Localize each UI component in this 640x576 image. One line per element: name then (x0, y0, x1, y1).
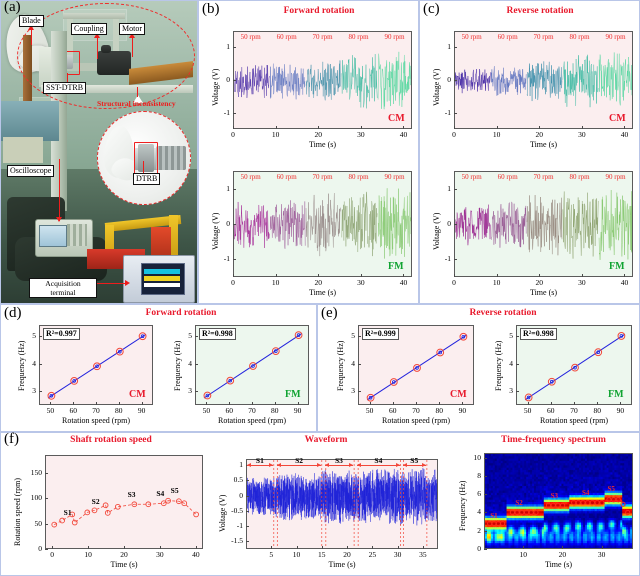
panel-d-label: (d) (4, 305, 22, 322)
y-tick-label: -1 (207, 108, 230, 117)
tag-blade: Blade (19, 15, 44, 27)
y-tick-mark (233, 47, 236, 48)
dtrb-highlight (134, 142, 158, 174)
speed-segment-label: S4 (156, 489, 164, 498)
x-tick-label: 20 (110, 550, 138, 559)
chart-f-speed-title: Shaft rotation speed (41, 435, 181, 445)
panel-c-label: (c) (423, 1, 440, 18)
panel-c-title: Reverse rotation (460, 6, 620, 16)
panel-b: (b) Forward rotation 010203040-101Time (… (198, 0, 419, 304)
plot-area (454, 31, 633, 129)
y-tick-mark (233, 189, 236, 190)
spectrogram-cell (632, 486, 633, 489)
y-axis-title: Frequency (Hz) (336, 341, 345, 391)
spectrum-segment-label: S2 (515, 499, 522, 507)
panel-b-label: (b) (202, 1, 220, 18)
x-tick-label: 10 (74, 550, 102, 559)
speed-data-point (52, 522, 57, 527)
tag-coupling: Coupling (71, 23, 107, 35)
spectrogram-cell (632, 479, 633, 482)
x-tick-mark (347, 546, 348, 549)
x-tick-mark (276, 126, 277, 129)
y-tick-mark (358, 391, 361, 392)
spectrogram-cell (632, 525, 633, 528)
y-tick-label: 0 (19, 544, 42, 553)
x-tick-mark (275, 402, 276, 405)
x-tick-mark (361, 274, 362, 277)
figure-root: Blade Coupling Motor SST-DTRB Oscillosco… (0, 0, 640, 576)
x-tick-label: 0 (440, 278, 468, 287)
spectrogram-cell (632, 497, 633, 500)
x-tick-label: 10 (483, 130, 511, 139)
spectrogram-cell (632, 507, 633, 510)
plot-area (246, 459, 438, 549)
y-tick-label: 1 (220, 460, 243, 469)
y-tick-mark (39, 336, 42, 337)
y-tick-mark (246, 541, 249, 542)
experiment-photograph: Blade Coupling Motor SST-DTRB Oscillosco… (1, 1, 197, 303)
x-tick-mark (574, 402, 575, 405)
waveform-segment-label: S2 (292, 456, 306, 465)
plot-area (233, 171, 412, 277)
x-tick-mark (582, 274, 583, 277)
x-tick-mark (403, 274, 404, 277)
x-tick-label: 10 (262, 130, 290, 139)
spectrogram-cell (632, 488, 633, 491)
spectrogram-cell (630, 548, 633, 549)
x-tick-label: 10 (509, 550, 537, 559)
panel-e-title: Reverse rotation (418, 308, 588, 318)
y-tick-label: 0.5 (220, 475, 243, 484)
tag-sst-dtrb: SST-DTRB (43, 82, 86, 94)
x-tick-label: 90 (606, 406, 634, 415)
x-tick-mark (403, 126, 404, 129)
x-tick-mark (361, 126, 362, 129)
y-tick-label: -1 (207, 254, 230, 263)
x-tick-mark (50, 402, 51, 405)
span-arrowhead (349, 463, 353, 467)
waveform-segment-label: S4 (371, 456, 385, 465)
x-tick-label: 20 (525, 130, 553, 139)
y-axis-title: Rotation speed (rpm) (13, 478, 22, 546)
chart-b-cm: 010203040-101Time (s)Voltage (V)50 rpm60… (199, 17, 420, 153)
speed-data-point (60, 518, 65, 523)
spectrogram-cell (632, 465, 633, 468)
chart-d-cm: 5060708090345Rotation speed (rpm)Frequen… (5, 317, 161, 431)
waveform-segment (378, 188, 412, 258)
span-arrowhead (325, 463, 329, 467)
spectrogram-cell (632, 513, 633, 516)
y-axis-title: Frequency (Hz) (494, 341, 503, 391)
x-tick-mark (539, 274, 540, 277)
chart-f-waveform-title: Waveform (271, 435, 381, 445)
y-tick-label: 1 (428, 184, 451, 193)
waveform-segment (234, 202, 269, 248)
x-tick-label: 15 (308, 550, 336, 559)
y-tick-mark (195, 336, 198, 337)
mode-corner-label: FM (608, 389, 624, 400)
r-squared-label: R²=0.998 (520, 328, 557, 340)
y-tick-mark (516, 336, 519, 337)
y-tick-label: 5 (490, 331, 513, 340)
y-axis-title: Voltage (V) (432, 69, 441, 106)
plot-area (484, 453, 633, 549)
rpm-annotation: 50 rpm (237, 33, 265, 41)
x-tick-mark (298, 402, 299, 405)
chart-f-shaft-speed: 010203040050100150Time (s)Rotation speed… (1, 443, 213, 575)
y-tick-mark (45, 549, 48, 550)
spectrogram-cell (632, 468, 633, 471)
x-tick-mark (318, 274, 319, 277)
plot-area (45, 455, 203, 549)
rpm-annotation: 50 rpm (237, 173, 265, 181)
x-tick-label: 20 (548, 550, 576, 559)
panel-e-label: (e) (321, 305, 338, 322)
x-axis-title: Time (s) (454, 140, 633, 149)
x-tick-mark (497, 274, 498, 277)
spectrogram-cell (632, 493, 633, 496)
spectrogram-cell (632, 536, 633, 539)
x-tick-mark (624, 126, 625, 129)
spectrogram-cell (632, 541, 633, 544)
spectrogram-cell (632, 477, 633, 480)
spectrogram-cell (632, 520, 633, 523)
y-axis-title: Frequency (Hz) (17, 341, 26, 391)
y-tick-mark (358, 364, 361, 365)
waveform-segment-label: S1 (253, 456, 267, 465)
x-tick-label: 30 (568, 130, 596, 139)
spectrogram-cell (632, 481, 633, 484)
x-tick-mark (372, 546, 373, 549)
mode-corner-label: FM (285, 389, 301, 400)
y-tick-mark (516, 364, 519, 365)
spectrogram-cell (632, 509, 633, 512)
spectrum-segment-label: S4 (582, 489, 589, 497)
x-tick-label: 25 (358, 550, 386, 559)
waveform-segment (563, 191, 598, 258)
x-tick-mark (229, 402, 230, 405)
x-axis-title: Rotation speed (rpm) (358, 416, 474, 425)
segment-span-arrow (277, 465, 320, 466)
mode-corner-label: FM (609, 261, 625, 272)
mode-corner-label: CM (609, 113, 626, 124)
speed-segment-label: S5 (171, 486, 179, 495)
x-tick-mark (271, 546, 272, 549)
waveform-segment (527, 195, 562, 255)
speed-segment-label: S2 (92, 497, 100, 506)
waveform-segment (306, 60, 341, 100)
rpm-annotation: 70 rpm (530, 33, 558, 41)
panel-d: (d) Forward rotation 5060708090345Rotati… (0, 304, 317, 432)
y-tick-mark (454, 113, 457, 114)
rpm-annotation: 90 rpm (602, 173, 630, 181)
y-tick-mark (233, 224, 236, 225)
rpm-annotation: 90 rpm (381, 33, 409, 41)
x-tick-mark (523, 546, 524, 549)
span-arrowhead (403, 463, 407, 467)
x-axis-title: Time (s) (454, 288, 633, 297)
x-tick-mark (398, 546, 399, 549)
spectrum-segment-label: S3 (551, 492, 558, 500)
waveform-segment (455, 69, 490, 93)
x-tick-label: 10 (283, 550, 311, 559)
y-tick-label: 1 (207, 184, 230, 193)
x-tick-label: 35 (409, 550, 437, 559)
spectrogram-cell (632, 518, 633, 521)
y-tick-mark (246, 511, 249, 512)
chart-c-cm: 010203040-101Time (s)Voltage (V)50 rpm60… (420, 17, 640, 153)
waveform-segment (599, 52, 633, 108)
x-axis-title: Time (s) (484, 560, 633, 569)
speed-data-point (194, 512, 199, 517)
x-tick-label: 30 (384, 550, 412, 559)
y-tick-label: -1.5 (220, 536, 243, 545)
y-tick-mark (195, 364, 198, 365)
y-tick-label: -1 (428, 254, 451, 263)
chart-f-waveform: 5101520253035-1.5-1-0.500.51Time (s)Volt… (206, 443, 446, 575)
waveform-segment-label: S5 (407, 456, 421, 465)
spectrogram-cell (632, 504, 633, 507)
x-tick-label: 90 (128, 406, 156, 415)
x-axis-title: Time (s) (246, 560, 438, 569)
x-tick-label: 30 (347, 278, 375, 287)
waveform-segment (455, 205, 490, 246)
rpm-annotation: 80 rpm (345, 33, 373, 41)
spectrogram-cell (632, 456, 633, 459)
y-tick-mark (484, 512, 487, 513)
plot-area (454, 171, 633, 277)
span-arrowhead (396, 463, 400, 467)
tag-dtrb: DTRB (133, 173, 160, 185)
x-tick-mark (88, 546, 89, 549)
spectrum-segment-label: S1 (490, 512, 497, 520)
speed-trend-line (54, 501, 196, 525)
motor-arrow (132, 35, 133, 57)
y-tick-mark (484, 458, 487, 459)
spectrogram-cell (632, 539, 633, 542)
x-tick-label: 30 (347, 130, 375, 139)
x-tick-label: 90 (284, 406, 312, 415)
chart-e-fm: 5060708090345Rotation speed (rpm)Frequen… (482, 317, 640, 431)
x-tick-label: 5 (257, 550, 285, 559)
x-tick-mark (160, 546, 161, 549)
spectrum-segment-label: S5 (608, 485, 615, 493)
chart-e-cm: 5060708090345Rotation speed (rpm)Frequen… (324, 317, 482, 431)
y-tick-label: 100 (19, 493, 42, 502)
x-tick-mark (562, 546, 563, 549)
mode-corner-label: FM (388, 261, 404, 272)
x-tick-mark (124, 546, 125, 549)
x-tick-mark (73, 402, 74, 405)
y-tick-mark (454, 47, 457, 48)
waveform-segment-label: S3 (332, 456, 346, 465)
spectrogram-cell (632, 454, 633, 457)
panel-a-label: (a) (4, 1, 21, 16)
y-tick-label: 5 (332, 331, 355, 340)
waveform-segment (491, 66, 526, 96)
y-tick-mark (39, 391, 42, 392)
x-axis-title: Time (s) (233, 140, 412, 149)
y-tick-label: 5 (169, 331, 192, 340)
x-tick-mark (551, 402, 552, 405)
y-tick-mark (246, 496, 249, 497)
x-tick-mark (539, 126, 540, 129)
spectrogram-cell (632, 502, 633, 505)
waveform-segment (563, 55, 598, 107)
x-tick-mark (233, 274, 234, 277)
rpm-annotation: 50 rpm (458, 173, 486, 181)
x-tick-label: 30 (588, 550, 616, 559)
rpm-annotation: 80 rpm (566, 173, 594, 181)
x-tick-mark (454, 126, 455, 129)
y-tick-mark (484, 531, 487, 532)
y-tick-mark (454, 259, 457, 260)
spectrogram-cell (632, 534, 633, 537)
x-tick-mark (393, 402, 394, 405)
span-arrowhead (277, 463, 281, 467)
x-tick-mark (620, 402, 621, 405)
x-tick-label: 20 (304, 278, 332, 287)
rpm-annotation: 60 rpm (273, 173, 301, 181)
span-arrowhead (317, 463, 321, 467)
chart-b-fm: 010203040-101Time (s)Voltage (V)50 rpm60… (199, 157, 420, 301)
x-tick-mark (370, 402, 371, 405)
x-tick-label: 20 (333, 550, 361, 559)
y-tick-mark (454, 80, 457, 81)
tag-acquisition-terminal: Acquisition terminal (29, 278, 97, 298)
waveform-segment (599, 190, 633, 260)
rpm-annotation: 70 rpm (309, 173, 337, 181)
panel-f: (f) Shaft rotation speed Waveform Time-f… (0, 432, 640, 576)
structural-inconsistency-label: Structural inconsistency (97, 99, 176, 108)
x-tick-label: 20 (304, 130, 332, 139)
x-tick-mark (196, 546, 197, 549)
spectrogram-cell (632, 523, 633, 526)
x-tick-label: 10 (483, 278, 511, 287)
x-tick-mark (52, 546, 53, 549)
x-tick-mark (206, 402, 207, 405)
tag-oscilloscope: Oscilloscope (7, 165, 54, 177)
speed-segment-label: S1 (64, 508, 72, 517)
y-tick-mark (45, 498, 48, 499)
x-tick-mark (602, 546, 603, 549)
y-tick-mark (516, 391, 519, 392)
waveform-segment (270, 200, 305, 248)
spectrogram-cell (632, 500, 633, 503)
r-squared-label: R²=0.998 (199, 328, 236, 340)
y-tick-mark (454, 189, 457, 190)
y-tick-label: 150 (19, 468, 42, 477)
rpm-annotation: 70 rpm (309, 33, 337, 41)
y-tick-mark (484, 549, 487, 550)
y-tick-mark (246, 480, 249, 481)
x-tick-label: 0 (219, 278, 247, 287)
x-tick-mark (597, 402, 598, 405)
spectrogram-cell (632, 472, 633, 475)
y-axis-title: Voltage (V) (211, 213, 220, 250)
y-tick-mark (358, 336, 361, 337)
acquisition-arrow (93, 283, 127, 284)
chart-c-fm: 010203040-101Time (s)Voltage (V)50 rpm60… (420, 157, 640, 301)
waveform-segment (306, 193, 341, 256)
waveform-segment (270, 64, 305, 100)
x-tick-label: 40 (610, 278, 638, 287)
x-tick-mark (416, 402, 417, 405)
x-tick-label: 0 (440, 130, 468, 139)
x-tick-mark (454, 274, 455, 277)
x-axis-title: Time (s) (233, 288, 412, 297)
rpm-annotation: 70 rpm (530, 173, 558, 181)
waveform-segment (342, 54, 377, 108)
panel-e: (e) Reverse rotation 5060708090345Rotati… (317, 304, 640, 432)
oscilloscope-arrow (59, 159, 60, 221)
x-tick-mark (142, 402, 143, 405)
y-axis-title: Voltage (V) (211, 69, 220, 106)
y-tick-label: 1 (207, 42, 230, 51)
spectrogram-cell (632, 516, 633, 519)
spectrogram-cell (632, 475, 633, 478)
spectrogram-cell (632, 463, 633, 466)
x-tick-mark (252, 402, 253, 405)
y-tick-mark (195, 391, 198, 392)
waveform-segment (527, 61, 562, 101)
y-tick-mark (39, 364, 42, 365)
y-tick-mark (484, 494, 487, 495)
x-tick-mark (233, 126, 234, 129)
waveform-segment (234, 65, 269, 98)
x-tick-mark (297, 546, 298, 549)
span-arrowhead (357, 463, 361, 467)
speed-segment-label: S3 (128, 490, 136, 499)
y-tick-mark (454, 224, 457, 225)
y-axis-title: Voltage (V) (218, 495, 227, 532)
x-tick-label: 30 (568, 278, 596, 287)
y-tick-label: 10 (458, 453, 481, 462)
coupling-arrow (97, 35, 98, 59)
spectrogram-cell (632, 543, 633, 546)
y-tick-mark (246, 526, 249, 527)
x-tick-mark (322, 546, 323, 549)
spectrogram-cell (632, 461, 633, 464)
x-tick-mark (96, 402, 97, 405)
y-tick-label: 0 (458, 544, 481, 553)
x-tick-label: 10 (262, 278, 290, 287)
chart-f-spectrum-title: Time-frequency spectrum (471, 435, 636, 445)
r-squared-label: R²=0.999 (362, 328, 399, 340)
chart-d-fm: 5060708090345Rotation speed (rpm)Frequen… (161, 317, 317, 431)
x-tick-mark (276, 274, 277, 277)
span-arrowhead (247, 463, 251, 467)
panel-d-title: Forward rotation (101, 308, 261, 318)
y-tick-label: 1 (428, 42, 451, 51)
spectrogram-cell (632, 545, 633, 548)
y-tick-mark (45, 524, 48, 525)
x-tick-mark (439, 402, 440, 405)
mode-corner-label: CM (450, 389, 467, 400)
y-tick-mark (484, 476, 487, 477)
y-axis-title: Voltage (V) (432, 213, 441, 250)
x-axis-title: Rotation speed (rpm) (195, 416, 309, 425)
x-tick-label: 40 (389, 278, 417, 287)
panel-a: Blade Coupling Motor SST-DTRB Oscillosco… (0, 0, 198, 304)
spectrogram-cell (632, 459, 633, 462)
x-tick-mark (462, 402, 463, 405)
y-tick-mark (233, 259, 236, 260)
span-arrowhead (269, 463, 273, 467)
panel-b-title: Forward rotation (239, 6, 399, 16)
x-tick-label: 30 (146, 550, 174, 559)
spectrogram-cell (632, 511, 633, 514)
